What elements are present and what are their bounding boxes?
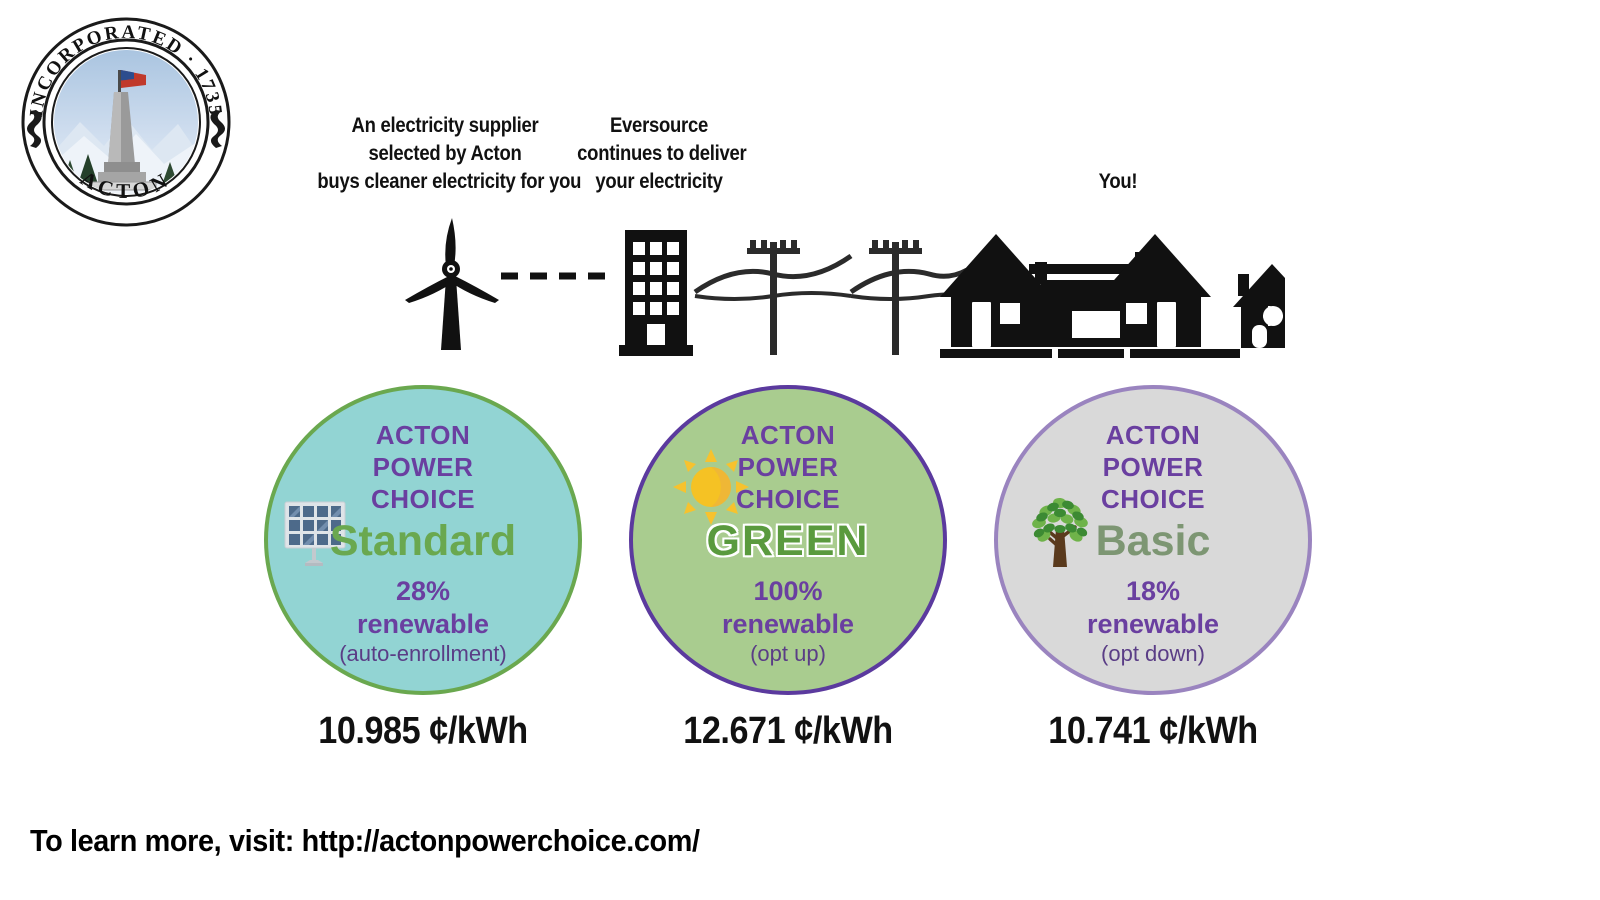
brand-block-green: ACTON POWER CHOICE <box>633 419 943 515</box>
office-building-icon <box>619 230 693 356</box>
utility-pole-icon <box>851 240 967 355</box>
caption-customer-line1: You! <box>1065 168 1171 196</box>
caption-supplier-line3: buys cleaner electricity for you <box>317 168 572 196</box>
brand-line-1: ACTON <box>268 419 578 451</box>
small-house-icon <box>1233 264 1285 348</box>
caption-supplier-line1: An electricity supplier <box>317 112 572 140</box>
brand-line-3: CHOICE <box>998 483 1308 515</box>
price-green: 12.671 ¢/kWh <box>640 709 937 753</box>
option-circle-basic[interactable]: ACTON POWER CHOICE Basic 18% renewable (… <box>994 385 1312 695</box>
caption-eversource-line1: Eversource <box>577 112 741 140</box>
enrollment-note-green: (opt up) <box>633 641 943 667</box>
caption-eversource-line2: continues to deliver <box>577 140 741 168</box>
renewable-block-basic: 18% renewable <box>998 575 1308 641</box>
tier-name-basic: Basic <box>998 517 1308 565</box>
brand-block-basic: ACTON POWER CHOICE <box>998 419 1308 515</box>
town-seal-icon: INCORPORATED · 1735 ACTON <box>18 14 234 230</box>
brand-line-1: ACTON <box>633 419 943 451</box>
wind-turbine-icon <box>405 218 499 350</box>
caption-customer: You! <box>1065 168 1171 196</box>
caption-eversource: Eversource continues to deliver your ele… <box>577 112 741 196</box>
renewable-word: renewable <box>268 608 578 641</box>
option-circle-standard[interactable]: ACTON POWER CHOICE Standard 28% renewabl… <box>264 385 582 695</box>
renewable-word: renewable <box>633 608 943 641</box>
enrollment-note-standard: (auto-enrollment) <box>268 641 578 667</box>
utility-pole-icon <box>695 240 851 355</box>
caption-supplier-line2: selected by Acton <box>317 140 572 168</box>
brand-block-standard: ACTON POWER CHOICE <box>268 419 578 515</box>
brand-line-2: POWER <box>268 451 578 483</box>
option-card-standard[interactable]: ACTON POWER CHOICE Standard 28% renewabl… <box>258 385 588 753</box>
tier-name-standard: Standard <box>268 517 578 565</box>
town-seal-logo: INCORPORATED · 1735 ACTON <box>18 14 234 230</box>
brand-line-1: ACTON <box>998 419 1308 451</box>
footer-call-to-action[interactable]: To learn more, visit: http://actonpowerc… <box>30 820 700 862</box>
renewable-block-green: 100% renewable <box>633 575 943 641</box>
large-house-icon <box>940 234 1240 358</box>
caption-eversource-line3: your electricity <box>577 168 741 196</box>
option-card-green[interactable]: ACTON POWER CHOICE GREEN 100% renewable … <box>623 385 953 753</box>
renewable-percent: 100% <box>633 575 943 608</box>
brand-line-2: POWER <box>998 451 1308 483</box>
brand-line-2: POWER <box>633 451 943 483</box>
price-standard: 10.985 ¢/kWh <box>275 709 572 753</box>
renewable-block-standard: 28% renewable <box>268 575 578 641</box>
electricity-flow-diagram <box>395 212 1285 362</box>
renewable-word: renewable <box>998 608 1308 641</box>
option-circle-green[interactable]: ACTON POWER CHOICE GREEN 100% renewable … <box>629 385 947 695</box>
brand-line-3: CHOICE <box>633 483 943 515</box>
tier-name-green: GREEN <box>633 517 943 565</box>
brand-line-3: CHOICE <box>268 483 578 515</box>
price-basic: 10.741 ¢/kWh <box>1005 709 1302 753</box>
renewable-percent: 28% <box>268 575 578 608</box>
renewable-percent: 18% <box>998 575 1308 608</box>
option-card-basic[interactable]: ACTON POWER CHOICE Basic 18% renewable (… <box>988 385 1318 753</box>
enrollment-note-basic: (opt down) <box>998 641 1308 667</box>
caption-supplier: An electricity supplier selected by Acto… <box>317 112 572 196</box>
